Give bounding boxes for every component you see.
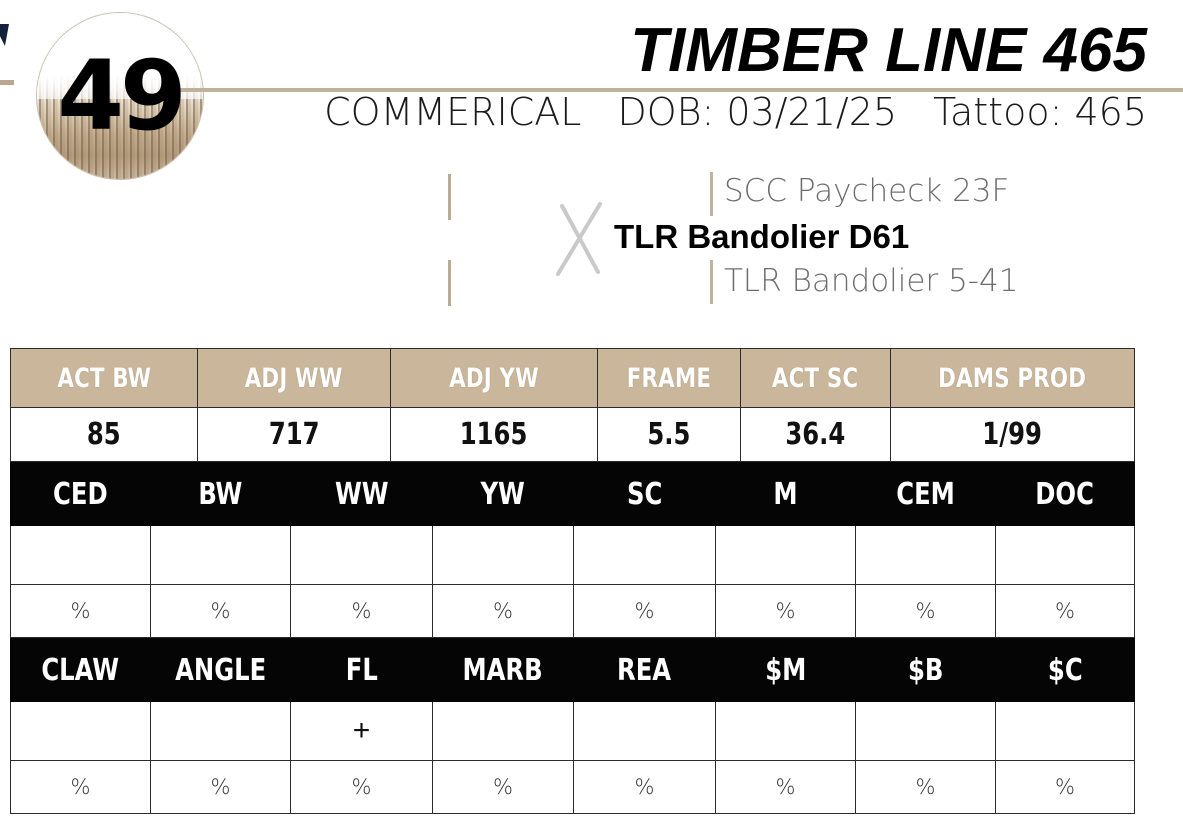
pedigree-block: SCC Paycheck 23F TLR Bandolier D61 TLR B…	[440, 168, 1140, 308]
epd-cell	[996, 526, 1135, 585]
epd-cell	[11, 702, 151, 761]
lot-number: 49	[37, 48, 203, 144]
epd1-value-row	[11, 526, 1135, 585]
epd-table-primary: CEDBWWWYWSCMCEMDOC %%%%%%%%	[10, 462, 1135, 638]
stats-header-row: ACT BWADJ WWADJ YWFRAMEACT SCDAMS PROD	[11, 349, 1135, 408]
lot-dob: DOB: 03/21/25	[617, 92, 897, 134]
header-subtitle: COMMERICAL DOB: 03/21/25 Tattoo: 465	[324, 92, 1147, 134]
epd-column-header: $M	[716, 639, 856, 702]
epd-percentile-cell: %	[716, 761, 856, 814]
lot-tattoo: Tattoo: 465	[933, 92, 1147, 134]
epd-cell	[996, 702, 1135, 761]
lot-header: 49 TIMBER LINE 465 COMMERICAL DOB: 03/21…	[0, 0, 1183, 340]
epd-column-header: FL	[291, 639, 433, 702]
data-tables: ACT BWADJ WWADJ YWFRAMEACT SCDAMS PROD 8…	[10, 348, 1134, 814]
epd-percentile-cell: %	[151, 585, 291, 638]
performance-stats-table: ACT BWADJ WWADJ YWFRAMEACT SCDAMS PROD 8…	[10, 348, 1135, 462]
epd-cell	[11, 526, 151, 585]
stats-column-header: DAMS PROD	[891, 349, 1135, 408]
epd-cell	[291, 526, 433, 585]
epd-cell	[716, 526, 856, 585]
epd-percentile-cell: %	[574, 585, 716, 638]
stats-cell: 36.4	[741, 408, 891, 462]
page-title: TIMBER LINE 465	[630, 20, 1147, 82]
epd-percentile-cell: %	[856, 761, 996, 814]
epd-column-header: ANGLE	[151, 639, 291, 702]
pedigree-bracket-left-bottom	[448, 260, 451, 306]
epd-column-header: CED	[11, 463, 151, 526]
epd-percentile-cell: %	[996, 585, 1135, 638]
epd-column-header: BW	[151, 463, 291, 526]
epd-cell: +	[291, 702, 433, 761]
stats-cell: 1165	[391, 408, 598, 462]
stats-column-header: FRAME	[598, 349, 741, 408]
stats-column-header: ADJ WW	[198, 349, 391, 408]
stats-cell: 717	[198, 408, 391, 462]
epd-column-header: CLAW	[11, 639, 151, 702]
epd-column-header: SC	[574, 463, 716, 526]
lot-number-badge: 49	[36, 12, 204, 180]
epd-column-header: MARB	[433, 639, 574, 702]
bottom-note	[12, 818, 1172, 834]
stats-value-row: 8571711655.536.41/99	[11, 408, 1135, 462]
epd-column-header: REA	[574, 639, 716, 702]
epd-percentile-cell: %	[996, 761, 1135, 814]
epd2-percentile-row: %%%%%%%%	[11, 761, 1135, 814]
stats-cell: 5.5	[598, 408, 741, 462]
pedigree-sire-dam: TLR Bandolier 5-41	[724, 266, 1018, 297]
epd-percentile-cell: %	[716, 585, 856, 638]
epd-column-header: $B	[856, 639, 996, 702]
epd1-percentile-row: %%%%%%%%	[11, 585, 1135, 638]
epd1-header-row: CEDBWWWYWSCMCEMDOC	[11, 463, 1135, 526]
epd-cell	[433, 702, 574, 761]
epd-column-header: YW	[433, 463, 574, 526]
epd2-value-row: +	[11, 702, 1135, 761]
epd-cell	[151, 526, 291, 585]
epd-table-secondary: CLAWANGLEFLMARBREA$M$B$C + %%%%%%%%	[10, 638, 1135, 814]
stats-column-header: ADJ YW	[391, 349, 598, 408]
epd-percentile-cell: %	[433, 761, 574, 814]
stats-column-header: ACT BW	[11, 349, 198, 408]
epd-cell	[856, 702, 996, 761]
epd-percentile-cell: %	[151, 761, 291, 814]
epd-percentile-cell: %	[291, 585, 433, 638]
epd-cell	[433, 526, 574, 585]
pedigree-bracket-right-top	[710, 172, 713, 216]
epd-percentile-cell: %	[433, 585, 574, 638]
pedigree-sire: TLR Bandolier D61	[614, 220, 909, 253]
epd-column-header: DOC	[996, 463, 1135, 526]
pedigree-bracket-left-top	[448, 174, 451, 220]
lot-category: COMMERICAL	[324, 92, 581, 134]
pedigree-bracket-right-bottom	[710, 260, 713, 304]
stats-column-header: ACT SC	[741, 349, 891, 408]
epd-cell	[574, 526, 716, 585]
epd-percentile-cell: %	[856, 585, 996, 638]
stats-cell: 1/99	[891, 408, 1135, 462]
epd-column-header: WW	[291, 463, 433, 526]
epd-column-header: CEM	[856, 463, 996, 526]
stats-cell: 85	[11, 408, 198, 462]
pedigree-cross-icon	[552, 200, 608, 278]
epd-cell	[856, 526, 996, 585]
epd-cell	[716, 702, 856, 761]
epd-cell	[574, 702, 716, 761]
epd-column-header: $C	[996, 639, 1135, 702]
epd-percentile-cell: %	[574, 761, 716, 814]
epd-percentile-cell: %	[11, 761, 151, 814]
epd-column-header: M	[716, 463, 856, 526]
epd2-header-row: CLAWANGLEFLMARBREA$M$B$C	[11, 639, 1135, 702]
epd-cell	[151, 702, 291, 761]
pedigree-sire-sire: SCC Paycheck 23F	[724, 176, 1009, 207]
epd-percentile-cell: %	[291, 761, 433, 814]
epd-percentile-cell: %	[11, 585, 151, 638]
